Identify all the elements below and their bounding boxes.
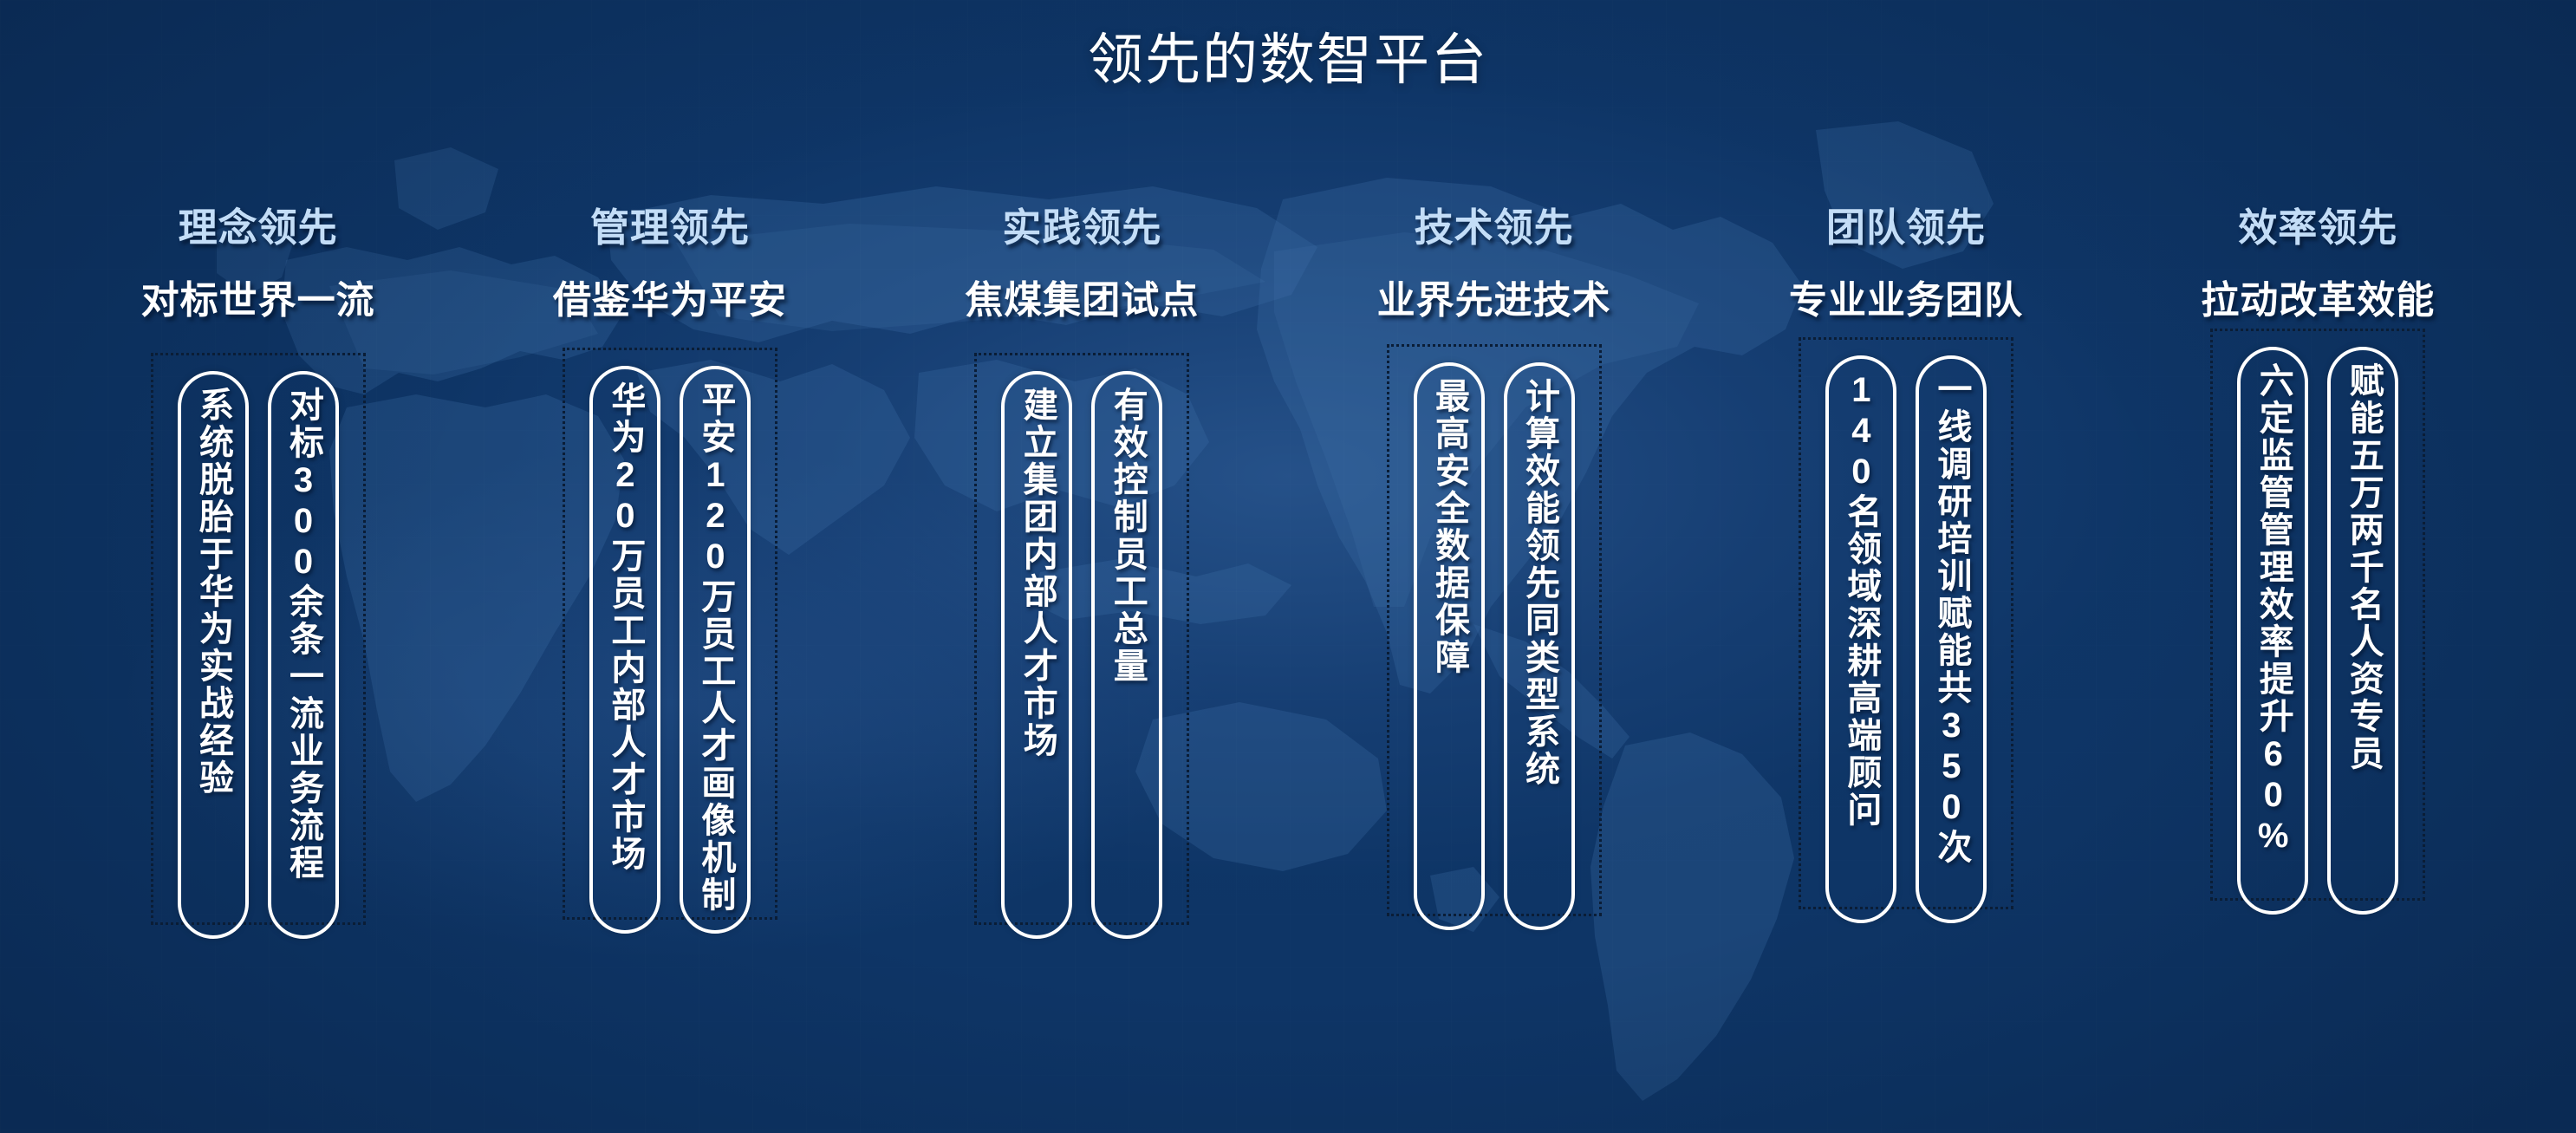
- column-heading: 实践领先: [1002, 208, 1161, 247]
- column-subheading: 拉动改革效能: [2201, 282, 2435, 320]
- pill-label: 一线调研培训赋能共350次: [1934, 359, 1969, 866]
- pill-capsule[interactable]: 最高安全数据保障: [1414, 362, 1485, 930]
- pill-label: 计算效能领先同类型系统: [1521, 366, 1557, 788]
- pill-capsule[interactable]: 平安120万员工人才画像机制: [680, 366, 751, 934]
- column-heading: 团队领先: [1826, 208, 1986, 247]
- column-subheading: 业界先进技术: [1377, 282, 1611, 320]
- pill-label: 有效控制员工总量: [1109, 374, 1145, 685]
- pill-row: 系统脱胎于华为实战经验 对标300余条一流业务流程: [178, 371, 339, 939]
- column-subheading: 专业业务团队: [1789, 282, 2023, 320]
- column-frame: 六定监管管理效率提升60% 赋能五万两千名人资专员: [2210, 329, 2425, 901]
- column-技术领先: 技术领先 业界先进技术 最高安全数据保障 计算效能领先同类型系统: [1288, 208, 1700, 916]
- column-frame: 建立集团内部人才市场 有效控制员工总量: [974, 353, 1189, 925]
- pill-row: 最高安全数据保障 计算效能领先同类型系统: [1414, 362, 1575, 930]
- pill-row: 六定监管管理效率提升60% 赋能五万两千名人资专员: [2237, 347, 2398, 915]
- column-subheading: 对标世界一流: [141, 282, 375, 320]
- column-heading: 技术领先: [1415, 208, 1574, 247]
- column-frame: 140名领域深耕高端顾问 一线调研培训赋能共350次: [1799, 337, 2013, 909]
- column-理念领先: 理念领先 对标世界一流 系统脱胎于华为实战经验 对标300余条一流业务流程: [52, 208, 464, 925]
- pill-capsule[interactable]: 华为20万员工内部人才市场: [589, 366, 660, 934]
- pill-capsule[interactable]: 一线调研培训赋能共350次: [1916, 355, 1987, 923]
- column-subheading: 借鉴华为平安: [553, 282, 787, 320]
- column-heading: 管理领先: [590, 208, 750, 247]
- column-管理领先: 管理领先 借鉴华为平安 华为20万员工内部人才市场 平安120万员工人才画像机制: [464, 208, 875, 920]
- column-实践领先: 实践领先 焦煤集团试点 建立集团内部人才市场 有效控制员工总量: [876, 208, 1288, 925]
- column-subheading: 焦煤集团试点: [965, 282, 1199, 320]
- pill-capsule[interactable]: 系统脱胎于华为实战经验: [178, 371, 249, 939]
- page-title: 领先的数智平台: [0, 16, 2576, 95]
- pill-capsule[interactable]: 赋能五万两千名人资专员: [2327, 347, 2398, 915]
- column-frame: 系统脱胎于华为实战经验 对标300余条一流业务流程: [151, 353, 366, 925]
- pill-capsule[interactable]: 六定监管管理效率提升60%: [2237, 347, 2308, 915]
- pill-label: 华为20万员工内部人才市场: [608, 369, 643, 873]
- pill-label: 六定监管管理效率提升60%: [2255, 350, 2291, 857]
- column-heading: 效率领先: [2238, 208, 2397, 247]
- pill-row: 建立集团内部人才市场 有效控制员工总量: [1001, 371, 1162, 939]
- pill-capsule[interactable]: 对标300余条一流业务流程: [268, 371, 339, 939]
- pill-label: 对标300余条一流业务流程: [285, 374, 321, 882]
- column-heading: 理念领先: [179, 208, 338, 247]
- pill-capsule[interactable]: 140名领域深耕高端顾问: [1825, 355, 1896, 923]
- pill-label: 系统脱胎于华为实战经验: [195, 374, 231, 797]
- pill-label: 赋能五万两千名人资专员: [2345, 350, 2381, 772]
- pill-label: 建立集团内部人才市场: [1019, 374, 1055, 759]
- column-效率领先: 效率领先 拉动改革效能 六定监管管理效率提升60% 赋能五万两千名人资专员: [2112, 208, 2524, 901]
- pill-capsule[interactable]: 有效控制员工总量: [1091, 371, 1162, 939]
- column-frame: 最高安全数据保障 计算效能领先同类型系统: [1387, 344, 1602, 916]
- pill-capsule[interactable]: 建立集团内部人才市场: [1001, 371, 1072, 939]
- pill-row: 华为20万员工内部人才市场 平安120万员工人才画像机制: [589, 366, 751, 934]
- column-frame: 华为20万员工内部人才市场 平安120万员工人才画像机制: [563, 348, 777, 920]
- pill-capsule[interactable]: 计算效能领先同类型系统: [1504, 362, 1575, 930]
- pill-row: 140名领域深耕高端顾问 一线调研培训赋能共350次: [1825, 355, 1987, 923]
- columns-container: 理念领先 对标世界一流 系统脱胎于华为实战经验 对标300余条一流业务流程 管理…: [52, 208, 2524, 1124]
- pill-label: 最高安全数据保障: [1431, 366, 1467, 676]
- pill-label: 平安120万员工人才画像机制: [698, 369, 733, 914]
- column-团队领先: 团队领先 专业业务团队 140名领域深耕高端顾问 一线调研培训赋能共350次: [1700, 208, 2111, 909]
- pill-label: 140名领域深耕高端顾问: [1844, 359, 1879, 829]
